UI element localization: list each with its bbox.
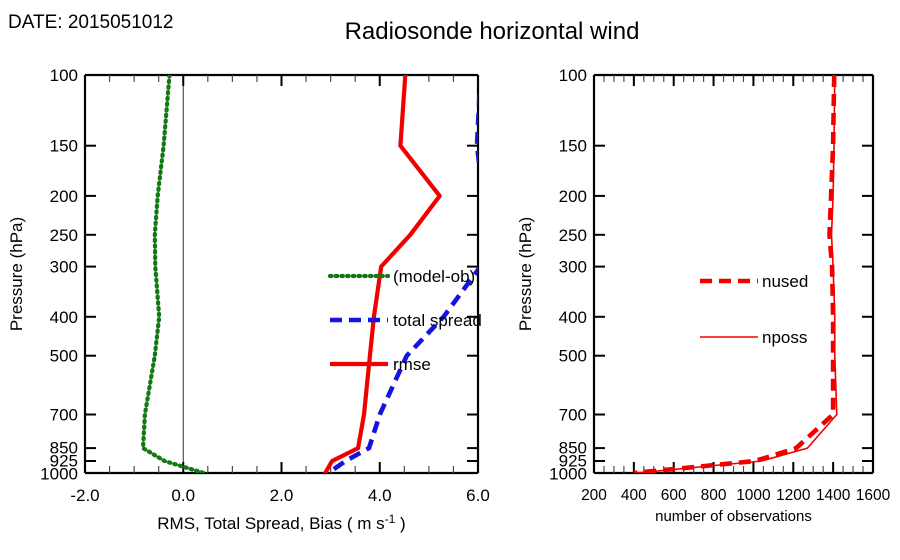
right-xtick-label: 1400 — [816, 487, 851, 504]
right-ytick-label: 400 — [559, 308, 587, 327]
left-ytick-label: 100 — [50, 66, 78, 85]
left-xtick-labels: -2.0 0.0 2.0 4.0 6.0 — [70, 486, 489, 505]
left-y-axis-title: Pressure (hPa) — [7, 217, 26, 331]
series-line-bias — [143, 75, 204, 473]
right-xtick-labels: 200 400 600 800 1000 1200 1400 1600 — [581, 487, 891, 504]
right-xtick-label: 400 — [621, 487, 647, 504]
right-ytick-label: 100 — [559, 66, 587, 85]
right-xtick-label: 1000 — [736, 487, 771, 504]
left-xtick-label: 4.0 — [368, 486, 392, 505]
chart-canvas: 100 150 200 250 300 400 500 700 850 925 … — [0, 0, 900, 560]
legend-label-spread: total spread — [393, 311, 482, 330]
right-ytick-label: 150 — [559, 137, 587, 156]
chart-page: DATE: 2015051012 Radiosonde horizontal w… — [0, 0, 900, 560]
right-xtick-label: 1600 — [856, 487, 891, 504]
right-ytick-labels: 100 150 200 250 300 400 500 700 850 925 … — [549, 66, 587, 484]
left-panel: 100 150 200 250 300 400 500 700 850 925 … — [7, 66, 490, 533]
left-legend: (model-ob) total spread rmse — [330, 267, 482, 374]
left-ytick-label: 200 — [50, 187, 78, 206]
right-ytick-label: 250 — [559, 226, 587, 245]
left-ytick-label: 700 — [50, 406, 78, 425]
right-panel: 100 150 200 250 300 400 500 700 850 925 … — [516, 66, 891, 525]
left-xtick-label: 0.0 — [171, 486, 195, 505]
legend-label-rmse: rmse — [393, 355, 431, 374]
right-x-axis-title: number of observations — [655, 508, 812, 525]
left-x-axis-title-pre: RMS, Total Spread, Bias ( m s — [157, 514, 384, 533]
left-x-axis-title-post: ) — [395, 514, 405, 533]
left-ytick-labels: 100 150 200 250 300 400 500 700 850 925 … — [40, 66, 78, 484]
right-ytick-label: 1000 — [549, 465, 587, 484]
right-legend: nused nposs — [700, 272, 808, 347]
legend-label-nposs: nposs — [762, 328, 807, 347]
left-ytick-label: 500 — [50, 347, 78, 366]
right-ytick-label: 700 — [559, 406, 587, 425]
right-xtick-label: 200 — [581, 487, 607, 504]
right-xtick-label: 600 — [661, 487, 687, 504]
right-ytick-label: 500 — [559, 347, 587, 366]
right-ytick-label: 300 — [559, 258, 587, 277]
right-xticks-minor — [604, 75, 863, 473]
left-ytick-label: 150 — [50, 137, 78, 156]
left-xtick-label: 2.0 — [270, 486, 294, 505]
legend-label-bias: (model-ob) — [393, 267, 475, 286]
left-ytick-label: 1000 — [40, 465, 78, 484]
left-x-axis-title: RMS, Total Spread, Bias ( m s-1 ) — [157, 512, 405, 533]
left-ytick-label: 400 — [50, 308, 78, 327]
left-ytick-label: 250 — [50, 226, 78, 245]
left-xtick-label: 6.0 — [466, 486, 490, 505]
legend-label-nused: nused — [762, 272, 808, 291]
left-ytick-label: 300 — [50, 258, 78, 277]
right-y-axis-title: Pressure (hPa) — [516, 217, 535, 331]
left-xtick-label: -2.0 — [70, 486, 99, 505]
right-ytick-label: 200 — [559, 187, 587, 206]
right-xtick-label: 800 — [701, 487, 727, 504]
right-xtick-label: 1200 — [776, 487, 811, 504]
left-x-axis-title-sup: -1 — [385, 512, 396, 526]
